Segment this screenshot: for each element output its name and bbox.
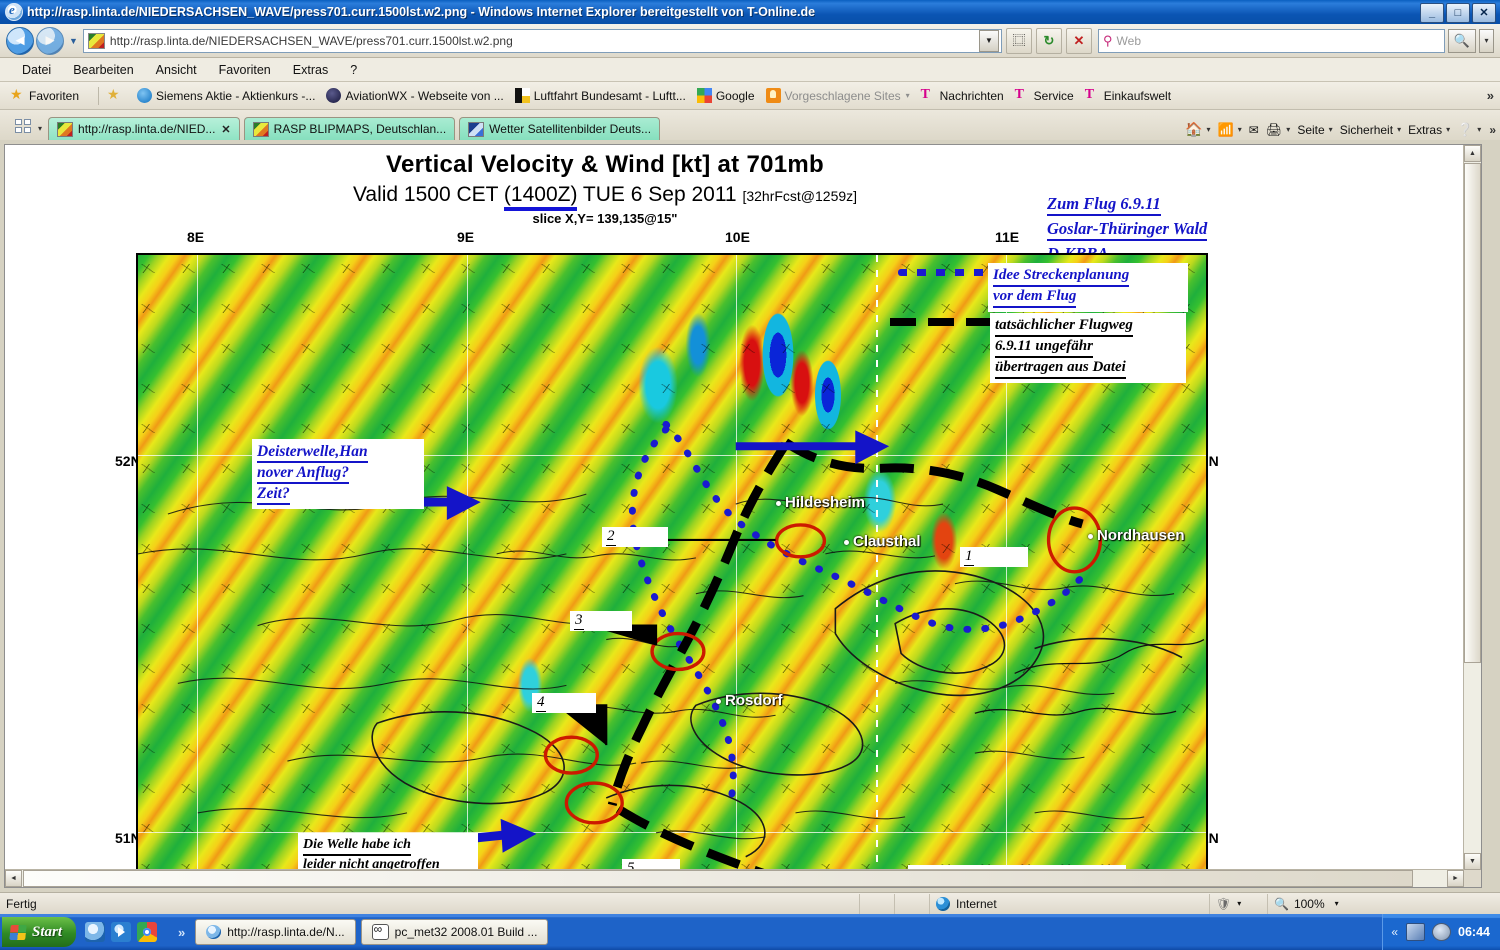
internet-explorer-icon [5,3,23,21]
start-button[interactable]: Start [2,917,76,947]
satellite-favicon-icon [468,122,484,137]
windows-flag-icon [9,925,27,940]
security-icon[interactable] [1432,923,1451,941]
city-label-rosdorf: Rosdorf [716,692,783,709]
tab-close-icon[interactable]: ✕ [221,123,230,136]
taskbar-button-label: pc_met32 2008.01 Build ... [395,925,538,939]
favorite-label: Luftfahrt Bundesamt - Luftt... [534,89,686,103]
start-button-label: Start [32,924,62,941]
taskbar-button-ie[interactable]: http://rasp.linta.de/N... [195,919,355,945]
waypoint-ring-4 [545,737,597,773]
city-name: Nordhausen [1097,527,1185,544]
favorites-button[interactable]: ★ Favoriten [10,88,79,103]
chart-slice-label: slice X,Y= 139,135@15" [5,211,1205,226]
chevron-down-icon[interactable]: ▾ [1329,125,1333,134]
home-button[interactable]: 🏠 ▾ [1185,121,1210,138]
back-button[interactable]: ◄ [6,27,34,55]
tab-list-caret-icon[interactable]: ▾ [38,124,42,133]
favorite-item-einkaufswelt[interactable]: T Einkaufswelt [1085,88,1171,103]
city-name: Rosdorf [725,692,783,709]
waypoint-ring-2 [777,525,825,557]
security-menu-label: Sicherheit [1340,123,1393,137]
flight-header-line2: Goslar-Thüringer Wald [1047,218,1207,241]
page-menu-label: Seite [1297,123,1324,137]
address-input[interactable]: http://rasp.linta.de/NIEDERSACHSEN_WAVE/… [110,34,979,48]
aviationwx-icon [326,88,341,103]
annotation-line: nover Anflug? [257,463,349,484]
refresh-icon[interactable]: ↻ [1036,28,1062,54]
city-name: Clausthal [853,533,921,550]
scroll-down-button[interactable]: ▼ [1464,853,1481,870]
security-menu-button[interactable]: Sicherheit ▾ [1340,123,1401,137]
status-zone[interactable]: Internet [930,894,1210,914]
favorite-label: Siemens Aktie - Aktienkurs -... [156,89,315,103]
feeds-button[interactable]: 📶 ▾ [1218,122,1242,138]
city-marker-dot [716,699,721,704]
window-title: http://rasp.linta.de/NIEDERSACHSEN_WAVE/… [27,5,815,19]
system-tray: « 06:44 [1382,914,1500,950]
city-marker-dot [776,501,781,506]
rasp-favicon-icon [253,122,269,137]
annotation-welle: Die Welle habe ich leider nicht angetrof… [298,833,478,872]
menu-ansicht[interactable]: Ansicht [156,63,197,77]
command-bar-overflow-icon[interactable]: » [1489,123,1496,137]
tab-label: http://rasp.linta.de/NIED... [78,122,215,136]
browser-viewport: Vertical Velocity & Wind [kt] at 701mb V… [4,144,1482,888]
print-button[interactable]: 🖨 ▾ [1266,122,1291,138]
annotation-line: Die Welle habe ich [303,836,411,856]
telekom-icon: T [921,88,936,103]
chrome-icon[interactable] [137,922,157,942]
tools-menu-button[interactable]: Extras ▾ [1408,123,1450,137]
legend-text-planned: Idee Streckenplanung vor dem Flug [988,263,1188,312]
favorite-item-google[interactable]: Google [697,88,755,103]
title-bar: http://rasp.linta.de/NIEDERSACHSEN_WAVE/… [0,0,1500,25]
chevron-down-icon[interactable]: ▾ [1446,125,1450,134]
favorite-item-service[interactable]: T Service [1015,88,1074,103]
xtick-10e: 10E [725,229,750,245]
vertical-scroll-thumb[interactable] [1464,163,1481,663]
taskbar-button-pcmet[interactable]: pc_met32 2008.01 Build ... [361,919,549,945]
taskbar: Start » http://rasp.linta.de/N... pc_met… [0,914,1500,950]
mail-button[interactable]: ✉ [1249,123,1259,137]
search-input[interactable]: Web [1117,34,1141,48]
actual-route-path [786,442,1083,524]
chart-subtitle-utc: (1400Z) [504,183,578,211]
favorite-item-aviationwx[interactable]: AviationWX - Webseite von ... [326,88,503,103]
flight-header-line1: Zum Flug 6.9.11 [1047,193,1161,216]
pcmet-icon [372,924,389,940]
tab-rasp-image[interactable]: http://rasp.linta.de/NIED... ✕ [48,117,240,140]
favorite-label: Einkaufswelt [1104,89,1171,103]
search-go-button[interactable]: 🔍 [1448,29,1476,53]
quick-launch-bar [82,922,160,942]
status-spacer-2 [895,894,930,914]
mail-icon: ✉ [1249,123,1259,137]
rasp-favicon-icon [57,122,73,137]
legend-swatch-actual [890,318,998,326]
legend-line: übertragen aus Datei [995,358,1126,379]
favorites-button-label: Favoriten [29,89,79,103]
annotation-line: Deisterwelle,Han [257,442,368,463]
xtick-11e: 11E [995,229,1019,245]
waypoint-box-1: 1 [960,547,1028,567]
internet-explorer-window: http://rasp.linta.de/NIEDERSACHSEN_WAVE/… [0,0,1500,950]
window-controls: _ □ ✕ [1420,3,1496,23]
help-icon: ❔ [1457,122,1473,138]
tab-label: RASP BLIPMAPS, Deutschlan... [274,122,447,136]
city-label-nordhausen: Nordhausen [1088,527,1185,544]
menu-datei[interactable]: Datei [22,63,51,77]
telekom-icon: T [1015,88,1030,103]
planned-route-path [666,424,1086,629]
forward-button[interactable]: ► [36,27,64,55]
globe-icon [936,897,950,911]
tray-expand-icon[interactable]: « [1391,925,1398,939]
scroll-left-button[interactable]: ◄ [5,870,22,887]
chart-title: Vertical Velocity & Wind [kt] at 701mb [5,151,1205,179]
ie-icon [206,925,221,939]
favorites-bar: ★ Favoriten ★ Siemens Aktie - Aktienkurs… [0,82,1500,110]
waypoint-number: 1 [964,548,974,566]
star-icon: ★ [10,88,25,103]
tools-menu-label: Extras [1408,123,1442,137]
tab-wetter-satellitenbilder[interactable]: Wetter Satellitenbilder Deuts... [459,117,660,140]
google-icon [697,88,712,103]
status-spacer-1 [860,894,895,914]
stop-icon[interactable]: ✕ [1066,28,1092,54]
favorites-overflow-icon[interactable]: » [1487,88,1494,103]
lba-icon [515,88,530,103]
add-to-favorites-bar-button[interactable]: ★ [107,88,126,103]
search-provider-caret-icon[interactable]: ▾ [1479,29,1494,53]
chevron-down-icon[interactable]: ▾ [1286,125,1290,134]
zoom-control[interactable]: 🔍 100% ▾ [1268,894,1368,914]
city-marker-dot [844,540,849,545]
address-bar[interactable]: http://rasp.linta.de/NIEDERSACHSEN_WAVE/… [83,29,1002,53]
search-box[interactable]: ⚲ Web [1098,29,1445,53]
legend-line: Idee Streckenplanung [993,266,1129,287]
search-icon: ⚲ [1103,33,1113,49]
add-favorite-icon: ★ [107,88,122,103]
menu-help[interactable]: ? [350,63,357,77]
zoom-icon: 🔍 [1274,897,1289,911]
city-label-clausthal: Clausthal [844,533,921,550]
chart-subtitle-valid: Valid 1500 CET [353,183,504,206]
city-name: Hildesheim [785,494,865,511]
favorite-label: AviationWX - Webseite von ... [345,89,503,103]
tab-label: Wetter Satellitenbilder Deuts... [489,122,651,136]
feeds-icon: 📶 [1218,122,1234,138]
legend-line: vor dem Flug [993,287,1076,308]
page-favicon-icon [88,33,105,49]
menu-extras[interactable]: Extras [293,63,328,77]
compatibility-view-icon[interactable]: ⿴ [1006,28,1032,54]
page-menu-button[interactable]: Seite ▾ [1297,123,1332,137]
legend-line: tatsächlicher Flugweg [995,316,1133,337]
annotation-line: Zeit? [257,484,290,505]
city-label-hildesheim: Hildesheim [776,494,865,511]
status-bar: Fertig Internet 🛡 ▾ 🔍 100% ▾ [0,892,1500,914]
chevron-down-icon[interactable]: ▾ [1477,125,1481,134]
taskbar-clock[interactable]: 06:44 [1458,925,1490,939]
legend-line: 6.9.11 ungefähr [995,337,1093,358]
bulb-icon [766,88,781,103]
chevron-down-icon[interactable]: ▾ [906,91,910,100]
favorite-item-vorgeschlagene-sites[interactable]: Vorgeschlagene Sites ▾ [766,88,910,103]
chevron-down-icon[interactable]: ▾ [1335,899,1339,908]
planned-route-lower [632,429,733,805]
media-player-icon[interactable] [111,922,131,942]
favorite-label: Service [1034,89,1074,103]
vertical-velocity-map: Hildesheim Clausthal Nordhausen Rosdorf … [136,253,1208,872]
annotation-deisterwelle: Deisterwelle,Han nover Anflug? Zeit? [252,439,424,509]
tab-rasp-blipmaps[interactable]: RASP BLIPMAPS, Deutschlan... [244,117,456,140]
chevron-down-icon[interactable]: ▾ [1237,899,1241,908]
waypoint-number: 2 [606,528,616,546]
maximize-button[interactable]: □ [1446,3,1470,23]
waypoint-box-3: 3 [570,611,632,631]
menu-bar: Datei Bearbeiten Ansicht Favoriten Extra… [0,58,1500,82]
menu-bearbeiten[interactable]: Bearbeiten [73,63,133,77]
shield-icon: 🛡 [1216,897,1231,911]
scroll-up-button[interactable]: ▲ [1464,145,1481,162]
status-zone-label: Internet [956,897,997,911]
taskbar-button-label: http://rasp.linta.de/N... [227,925,344,939]
quick-tabs-icon[interactable] [12,116,34,136]
zoom-level-label: 100% [1294,897,1325,911]
tab-bar: ▾ http://rasp.linta.de/NIED... ✕ RASP BL… [0,110,1500,140]
city-marker-dot [1088,534,1093,539]
favorite-label: Nachrichten [940,89,1004,103]
help-menu-button[interactable]: ❔ ▾ [1457,122,1481,138]
waypoint-number: 3 [574,612,584,630]
waypoint-box-4: 4 [532,693,596,713]
waypoint-ring-3 [652,634,704,670]
favorite-label: Vorgeschlagene Sites [785,89,901,103]
chart-subtitle-date: TUE 6 Sep 2011 [577,183,742,206]
legend-text-actual: tatsächlicher Flugweg 6.9.11 ungefähr üb… [990,313,1186,383]
print-icon: 🖨 [1266,122,1283,138]
protected-mode-button[interactable]: 🛡 ▾ [1210,894,1268,914]
siemens-icon [137,88,152,103]
close-button[interactable]: ✕ [1472,3,1496,23]
vertical-scrollbar[interactable]: ▲ ▼ [1463,145,1481,870]
address-dropdown-caret-icon[interactable]: ▼ [979,30,999,52]
favorites-divider [98,87,99,105]
rasp-chart-page: Vertical Velocity & Wind [kt] at 701mb V… [5,145,1464,872]
waypoint-box-2: 2 [602,527,668,547]
chevron-down-icon[interactable]: ▾ [1397,125,1401,134]
chevron-down-icon[interactable]: ▾ [1207,125,1211,134]
status-message: Fertig [0,894,860,914]
horizontal-scrollbar[interactable]: ◄ ► [5,869,1464,887]
horizontal-scroll-thumb[interactable] [23,870,1413,887]
chevron-down-icon[interactable]: ▾ [1238,125,1242,134]
xtick-8e: 8E [187,229,204,245]
xtick-9e: 9E [457,229,474,245]
minimize-button[interactable]: _ [1420,3,1444,23]
scrollbar-corner [1464,870,1481,887]
network-icon[interactable] [1406,923,1425,941]
navigation-bar: ◄ ► ▼ http://rasp.linta.de/NIEDERSACHSEN… [0,24,1500,58]
recent-pages-caret-icon[interactable]: ▼ [69,36,78,46]
favorite-label: Google [716,89,755,103]
favorite-item-luftfahrt-bundesamt[interactable]: Luftfahrt Bundesamt - Luftt... [515,88,686,103]
telekom-icon: T [1085,88,1100,103]
ie-icon[interactable] [85,922,105,942]
chart-subtitle-forecast: [32hrFcst@1259z] [742,188,857,204]
favorite-item-siemens[interactable]: Siemens Aktie - Aktienkurs -... [137,88,315,103]
command-bar: 🏠 ▾ 📶 ▾ ✉ 🖨 ▾ Seite ▾ Sicherheit ▾ [1178,121,1496,138]
menu-favoriten[interactable]: Favoriten [219,63,271,77]
chart-subtitle: Valid 1500 CET (1400Z) TUE 6 Sep 2011 [3… [5,183,1205,207]
home-icon: 🏠 [1185,121,1202,138]
waypoint-number: 4 [536,694,546,712]
favorite-item-nachrichten[interactable]: T Nachrichten [921,88,1004,103]
scroll-right-button[interactable]: ► [1447,870,1464,887]
quick-launch-overflow-icon[interactable]: » [178,925,185,940]
